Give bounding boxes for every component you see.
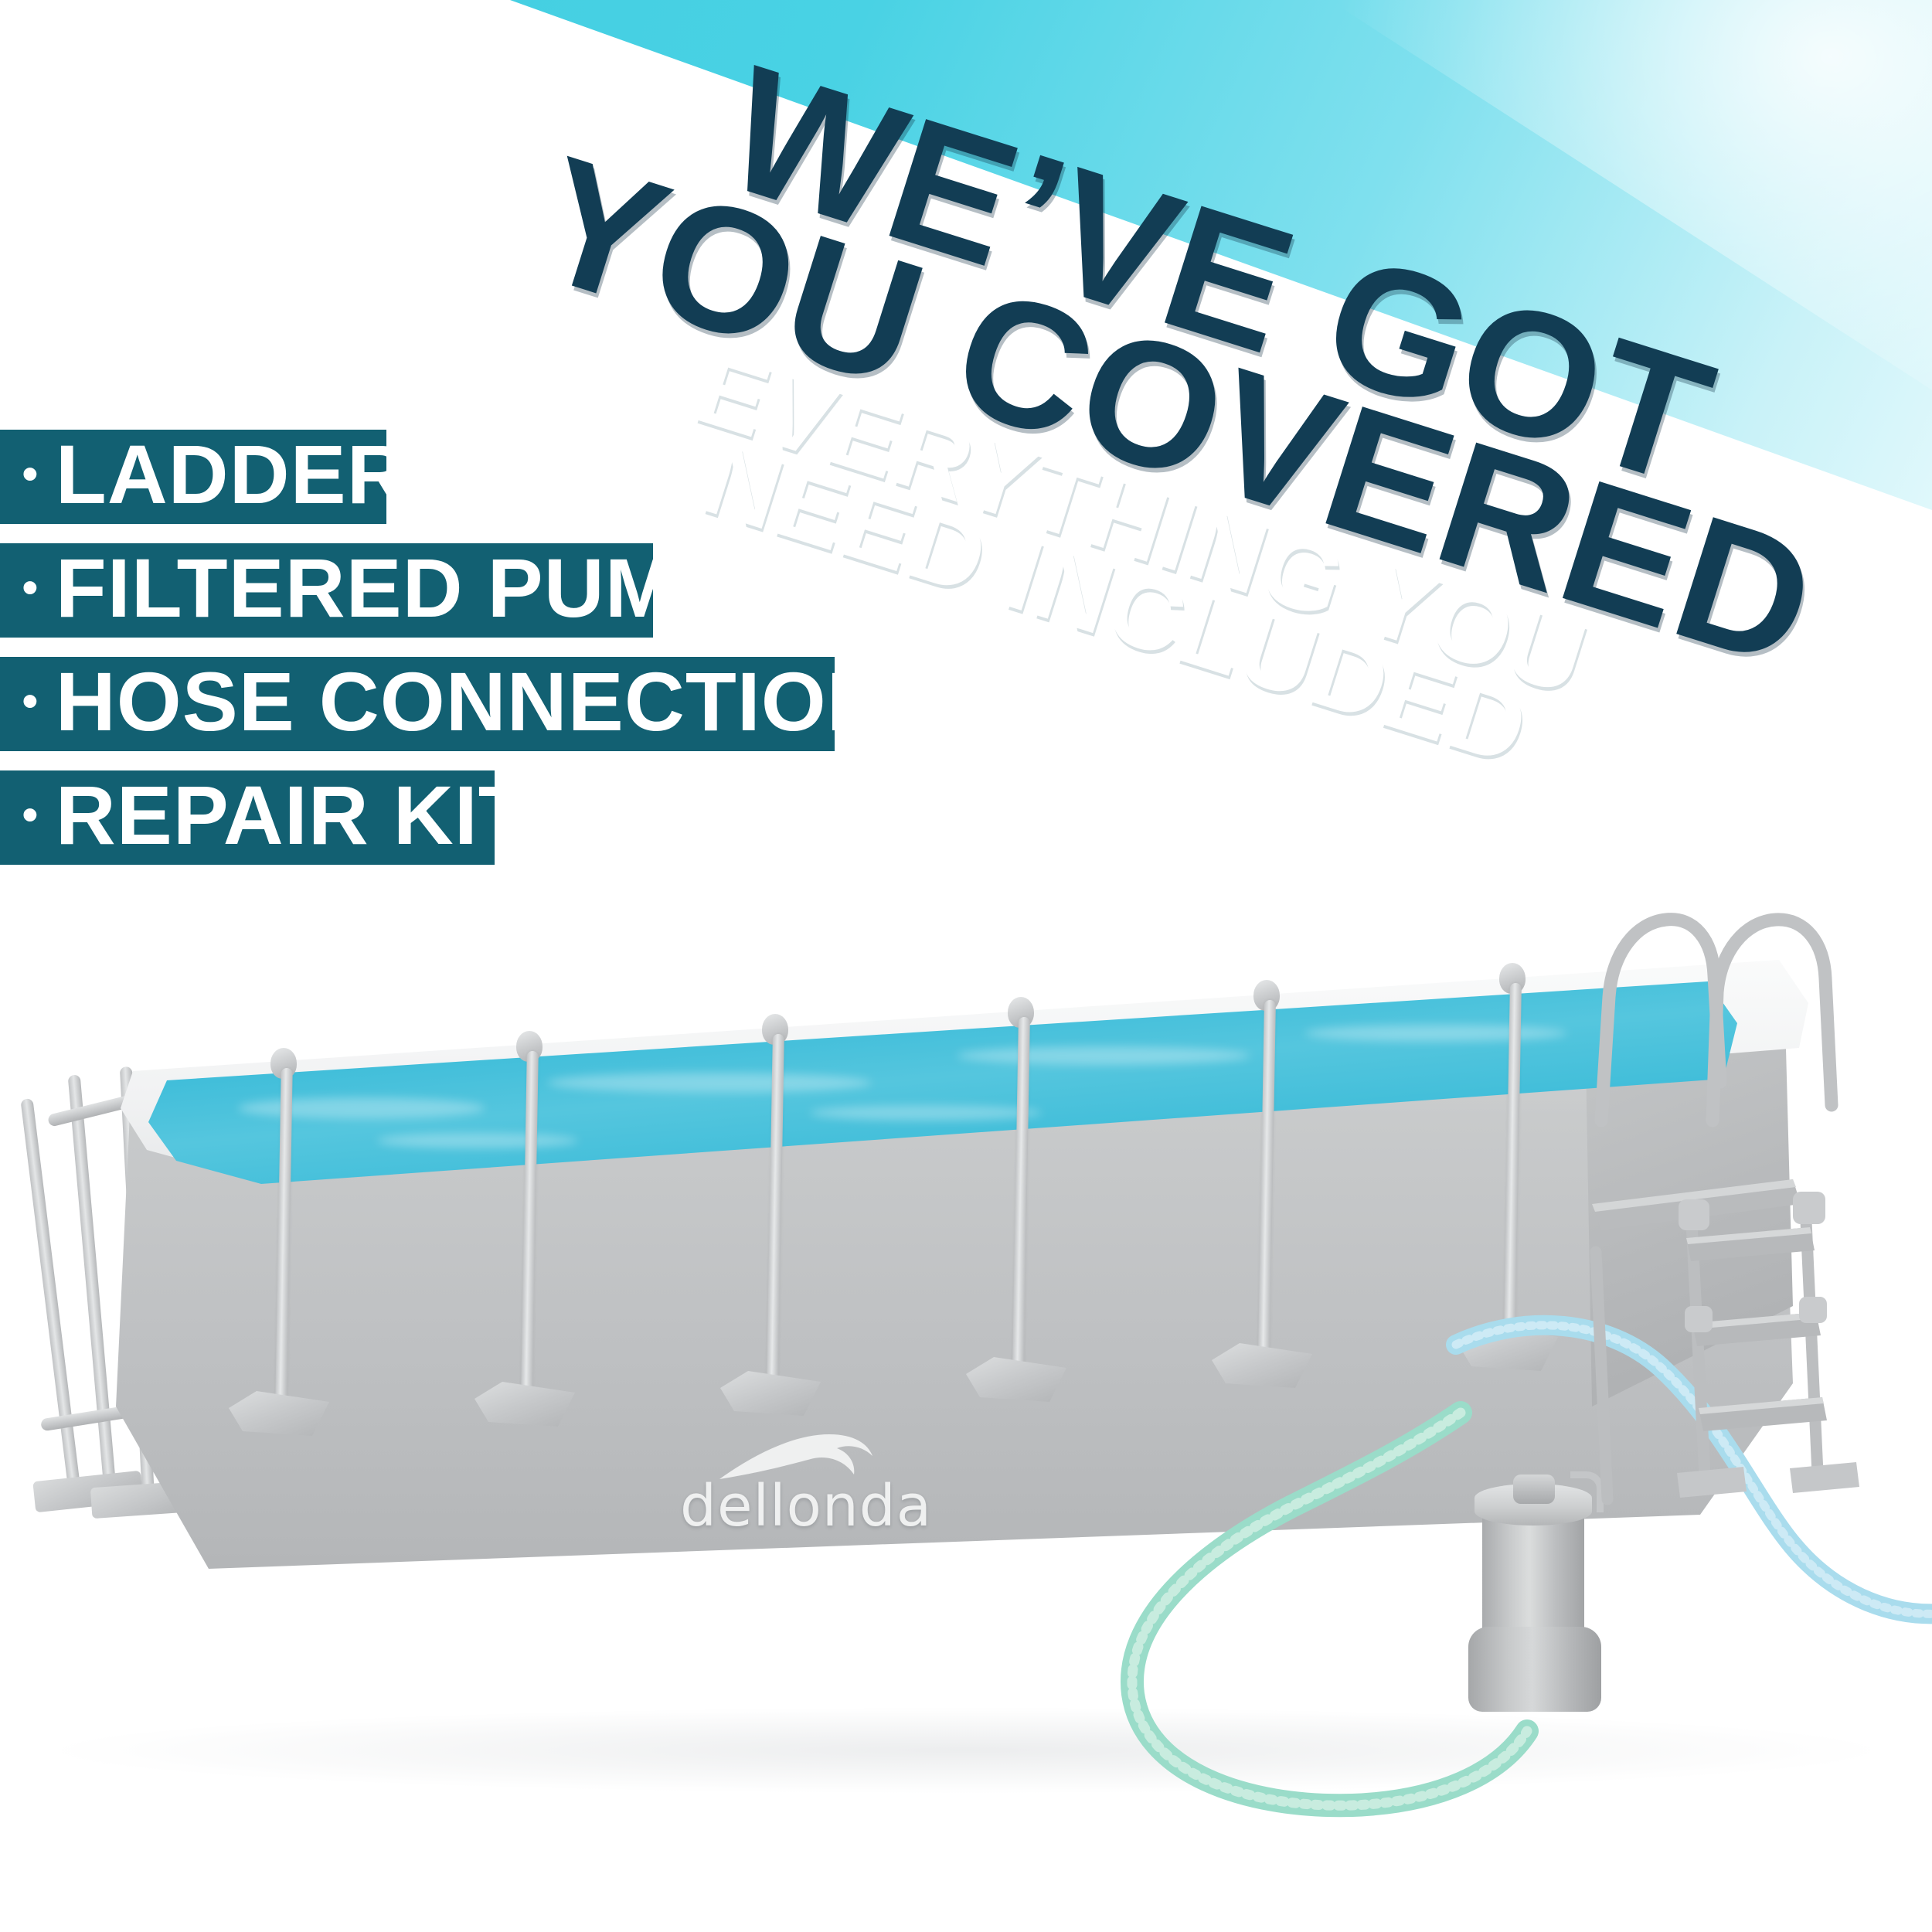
feature-label-hose-connections: HOSE CONNECTIONS — [56, 660, 944, 748]
safety-ladder — [1561, 889, 1932, 1507]
pump-base — [1468, 1627, 1601, 1712]
feature-bar-ladder: • LADDER — [0, 430, 386, 524]
list-item: • FILTERED PUMP — [0, 543, 835, 638]
brand-name: dellonda — [680, 1473, 932, 1539]
feature-bar-filtered-pump: • FILTERED PUMP — [0, 543, 653, 638]
product-promo-image: WE’VE GOT YOU COVERED EVERYTHING YOU NEE… — [0, 0, 1932, 1932]
feature-label-ladder: LADDER — [56, 433, 408, 521]
brand-logo: dellonda — [680, 1430, 932, 1539]
feature-list: • LADDER • FILTERED PUMP • HOSE CONNECTI… — [0, 430, 835, 884]
list-item: • HOSE CONNECTIONS — [0, 657, 835, 751]
list-item: • REPAIR KIT — [0, 770, 835, 865]
feature-label-filtered-pump: FILTERED PUMP — [56, 546, 732, 634]
feature-label-repair-kit: REPAIR KIT — [56, 774, 530, 862]
pump-knob — [1513, 1475, 1555, 1504]
feature-bar-hose-connections: • HOSE CONNECTIONS — [0, 657, 835, 751]
list-item: • LADDER — [0, 430, 835, 524]
feature-bar-repair-kit: • REPAIR KIT — [0, 770, 495, 865]
